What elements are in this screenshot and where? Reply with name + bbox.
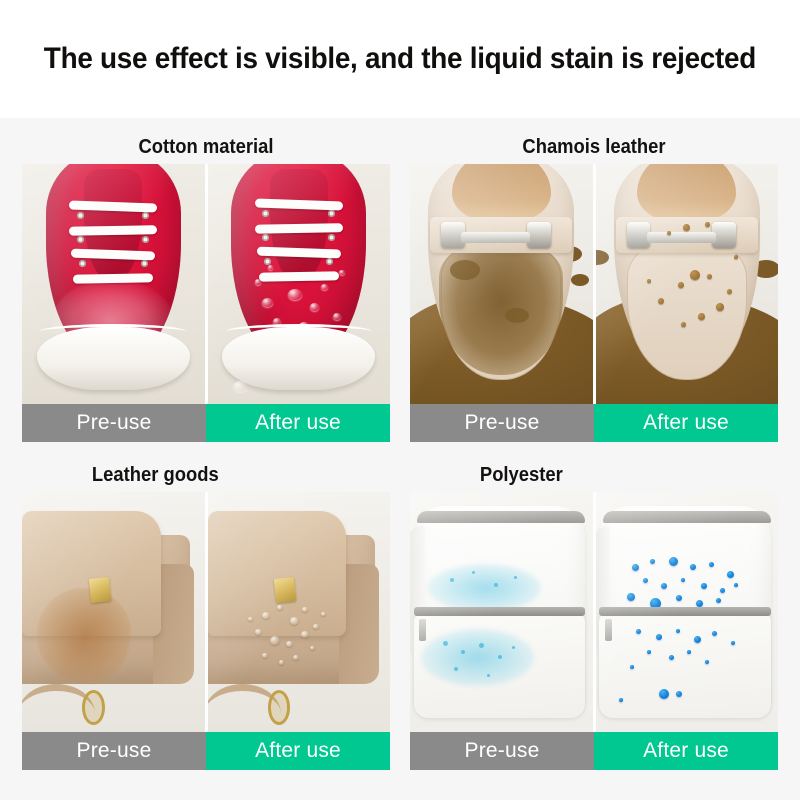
photo-cotton-after-use [205,164,391,404]
photo-cotton-pre-use [22,164,205,404]
label-pre-use-cotton: Pre-use [22,404,206,442]
label-after-use-leather: After use [206,732,390,770]
compare-chamois [410,164,778,404]
photo-leather-after-use [205,492,391,732]
photo-chamois-pre-use [410,164,593,404]
photo-chamois-after-use [593,164,779,404]
photo-polyester-pre-use [410,492,593,732]
label-after-use-cotton: After use [206,404,390,442]
page-title: The use effect is visible, and the liqui… [44,42,756,76]
comparison-grid: Cotton material [0,118,800,800]
label-pre-use-leather: Pre-use [22,732,206,770]
compare-polyester [410,492,778,732]
labelbar-cotton: Pre-use After use [22,404,390,442]
infographic-page: The use effect is visible, and the liqui… [0,0,800,800]
panel-title-chamois: Chamois leather [425,130,764,164]
photo-polyester-after-use [593,492,779,732]
panel-cotton: Cotton material [22,130,390,442]
panel-leather: Leather goods [22,458,390,770]
labelbar-chamois: Pre-use After use [410,404,778,442]
labelbar-leather: Pre-use After use [22,732,390,770]
panel-title-polyester: Polyester [410,458,749,492]
title-band: The use effect is visible, and the liqui… [0,0,800,118]
label-after-use-polyester: After use [594,732,778,770]
panel-title-cotton: Cotton material [37,130,376,164]
photo-leather-pre-use [22,492,205,732]
label-pre-use-polyester: Pre-use [410,732,594,770]
panel-title-leather: Leather goods [22,458,361,492]
label-after-use-chamois: After use [594,404,778,442]
labelbar-polyester: Pre-use After use [410,732,778,770]
compare-cotton [22,164,390,404]
label-pre-use-chamois: Pre-use [410,404,594,442]
panel-chamois: Chamois leather [410,130,778,442]
compare-leather [22,492,390,732]
panel-polyester: Polyester [410,458,778,770]
